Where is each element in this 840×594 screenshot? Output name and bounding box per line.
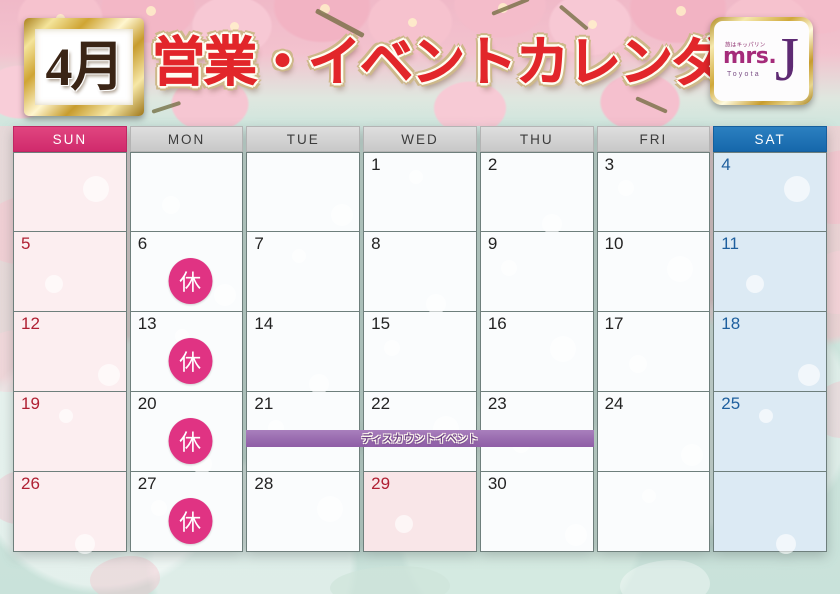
cell-watermark xyxy=(642,489,656,503)
calendar-cell[interactable]: 4 xyxy=(713,152,827,232)
day-number: 15 xyxy=(371,315,390,332)
calendar-page: 4月 営業・イベントカレンダー 旅はキッパリン mrs. Toyota J SU… xyxy=(0,0,840,594)
day-number: 26 xyxy=(21,475,40,492)
day-number: 24 xyxy=(605,395,624,412)
cell-watermark xyxy=(151,500,167,516)
calendar-cell[interactable]: 13休 xyxy=(130,312,244,392)
cell-watermark xyxy=(550,336,576,362)
day-number: 1 xyxy=(371,156,380,173)
day-number: 13 xyxy=(138,315,157,332)
brand-logo-inner: 旅はキッパリン mrs. Toyota J xyxy=(714,21,809,101)
cell-watermark xyxy=(317,496,343,522)
logo-j-mark: J xyxy=(775,29,799,91)
brand-logo: 旅はキッパリン mrs. Toyota J xyxy=(710,17,813,105)
cell-watermark xyxy=(681,444,703,466)
cell-watermark xyxy=(45,275,63,293)
day-header-fri: FRI xyxy=(597,126,711,152)
cell-watermark xyxy=(395,515,413,533)
cell-watermark xyxy=(214,284,236,306)
cell-watermark xyxy=(776,534,796,554)
blossom-center-dot xyxy=(146,6,156,16)
day-number: 18 xyxy=(721,315,740,332)
cell-watermark xyxy=(409,170,423,184)
closed-day-badge: 休 xyxy=(168,258,212,304)
cell-watermark xyxy=(426,294,446,314)
cell-watermark xyxy=(542,214,562,234)
month-badge: 4月 xyxy=(24,18,144,116)
day-header-sun: SUN xyxy=(13,126,127,152)
blossom-center-dot xyxy=(676,6,686,16)
day-number: 14 xyxy=(254,315,273,332)
cell-watermark xyxy=(384,340,400,356)
calendar-cell[interactable]: 7 xyxy=(246,232,360,312)
event-label: ディスカウントイベント xyxy=(362,431,479,446)
day-number: 19 xyxy=(21,395,40,412)
day-number: 2 xyxy=(488,156,497,173)
closed-day-badge: 休 xyxy=(168,418,212,464)
day-header-wed: WED xyxy=(363,126,477,152)
day-number: 9 xyxy=(488,235,497,252)
calendar-cell[interactable] xyxy=(597,472,711,552)
calendar-cell[interactable]: 24 xyxy=(597,392,711,472)
calendar-cell[interactable] xyxy=(246,152,360,232)
calendar-cell[interactable]: 12 xyxy=(13,312,127,392)
calendar-cell[interactable]: 10 xyxy=(597,232,711,312)
calendar-cell[interactable]: 2 xyxy=(480,152,594,232)
day-number: 21 xyxy=(254,395,273,412)
calendar-cell[interactable]: 15 xyxy=(363,312,477,392)
day-number: 8 xyxy=(371,235,380,252)
day-number: 28 xyxy=(254,475,273,492)
day-number: 23 xyxy=(488,395,507,412)
calendar-cell[interactable]: 18 xyxy=(713,312,827,392)
day-number: 11 xyxy=(721,235,739,252)
calendar-cell[interactable] xyxy=(713,472,827,552)
calendar-cell[interactable] xyxy=(13,152,127,232)
calendar-cell[interactable]: 8 xyxy=(363,232,477,312)
day-number: 22 xyxy=(371,395,390,412)
day-number: 6 xyxy=(138,235,147,252)
calendar-cell[interactable]: 17 xyxy=(597,312,711,392)
cell-watermark xyxy=(98,364,120,386)
day-number: 5 xyxy=(21,235,30,252)
calendar-cell[interactable]: 28 xyxy=(246,472,360,552)
logo-name-text: mrs. xyxy=(723,46,776,68)
calendar-cell[interactable]: 30 xyxy=(480,472,594,552)
day-number: 3 xyxy=(605,156,614,173)
calendar-cell[interactable]: 27休 xyxy=(130,472,244,552)
month-badge-inner: 4月 xyxy=(35,29,133,105)
cell-watermark xyxy=(162,196,180,214)
cell-watermark xyxy=(565,524,587,546)
calendar-grid: SUNMONTUEWEDTHUFRISAT123456休78910111213休… xyxy=(13,126,827,552)
day-number: 25 xyxy=(721,395,740,412)
day-number: 27 xyxy=(138,475,157,492)
day-number: 4 xyxy=(721,156,730,173)
cell-watermark xyxy=(746,275,764,293)
calendar-cell[interactable]: 19 xyxy=(13,392,127,472)
page-title: 営業・イベントカレンダー xyxy=(152,22,682,102)
day-header-thu: THU xyxy=(480,126,594,152)
day-number: 30 xyxy=(488,475,507,492)
cell-watermark xyxy=(75,534,95,554)
cell-watermark xyxy=(83,176,109,202)
calendar-cell[interactable]: 16 xyxy=(480,312,594,392)
event-bar[interactable]: ディスカウントイベント xyxy=(246,430,593,447)
calendar-cell[interactable]: 26 xyxy=(13,472,127,552)
header-banner: 4月 営業・イベントカレンダー 旅はキッパリン mrs. Toyota J xyxy=(0,0,840,126)
calendar-cell[interactable]: 29 xyxy=(363,472,477,552)
day-number: 20 xyxy=(138,395,157,412)
day-number: 16 xyxy=(488,315,507,332)
cell-watermark xyxy=(618,180,634,196)
calendar-cell[interactable]: 20休 xyxy=(130,392,244,472)
day-number: 17 xyxy=(605,315,624,332)
calendar-cell[interactable]: 25 xyxy=(713,392,827,472)
calendar-cell[interactable]: 3 xyxy=(597,152,711,232)
day-number: 10 xyxy=(605,235,624,252)
cell-watermark xyxy=(309,374,329,394)
calendar-cell[interactable]: 11 xyxy=(713,232,827,312)
calendar-cell[interactable]: 6休 xyxy=(130,232,244,312)
cell-watermark xyxy=(759,409,773,423)
cell-watermark xyxy=(501,260,517,276)
cell-watermark xyxy=(59,409,73,423)
calendar-cell[interactable]: 1 xyxy=(363,152,477,232)
day-header-mon: MON xyxy=(130,126,244,152)
day-number: 7 xyxy=(254,235,263,252)
month-label: 4月 xyxy=(46,40,123,94)
page-title-text: 営業・イベントカレンダー xyxy=(152,36,776,89)
day-header-sat: SAT xyxy=(713,126,827,152)
calendar-cell[interactable] xyxy=(130,152,244,232)
closed-day-badge: 休 xyxy=(168,498,212,544)
closed-day-badge: 休 xyxy=(168,338,212,384)
cell-watermark xyxy=(667,256,693,282)
calendar-cell[interactable]: 5 xyxy=(13,232,127,312)
calendar-cell[interactable]: 14 xyxy=(246,312,360,392)
calendar-cell[interactable]: 9 xyxy=(480,232,594,312)
cell-watermark xyxy=(331,204,353,226)
logo-sub-text: Toyota xyxy=(727,71,761,78)
cell-watermark xyxy=(784,176,810,202)
cell-watermark xyxy=(629,355,647,373)
cell-watermark xyxy=(798,364,820,386)
day-header-tue: TUE xyxy=(246,126,360,152)
cell-watermark xyxy=(292,249,306,263)
day-number: 29 xyxy=(371,475,390,492)
day-number: 12 xyxy=(21,315,40,332)
